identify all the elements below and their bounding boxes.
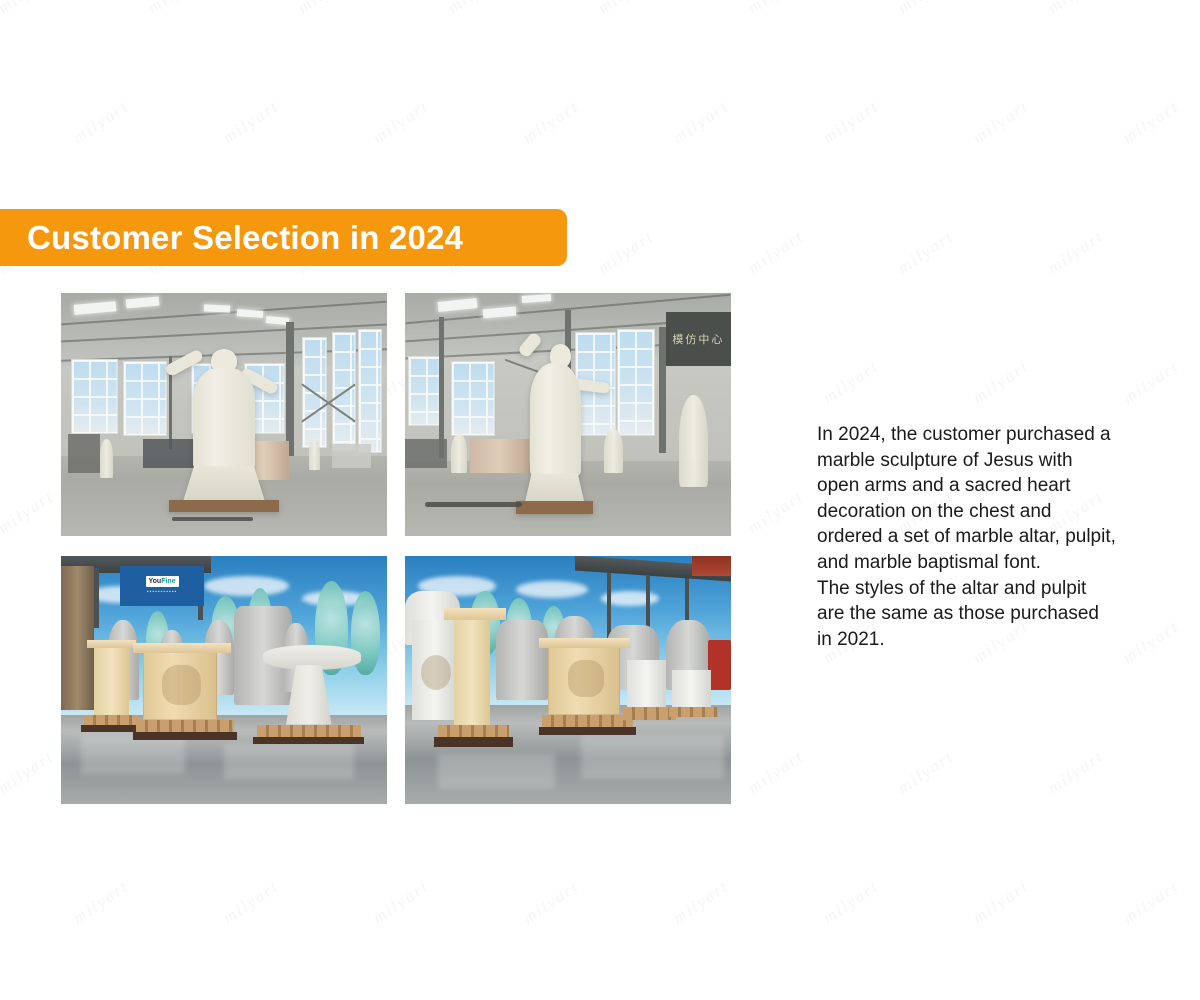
watermark-text: milyart bbox=[594, 0, 658, 18]
watermark-text: milyart bbox=[669, 876, 733, 928]
watermark-text: milyart bbox=[894, 226, 958, 278]
watermark-text: milyart bbox=[1119, 616, 1183, 668]
watermark-text: milyart bbox=[369, 96, 433, 148]
watermark-text: milyart bbox=[69, 96, 133, 148]
page-title: Customer Selection in 2024 bbox=[0, 221, 463, 254]
watermark-text: milyart bbox=[219, 96, 283, 148]
youfine-sign-subtitle: ▪▪▪▪▪▪▪▪▪▪▪ bbox=[147, 589, 178, 595]
section-title-banner: Customer Selection in 2024 bbox=[0, 209, 567, 266]
watermark-text: milyart bbox=[1194, 226, 1200, 278]
youfine-logo: YouFine bbox=[146, 576, 179, 587]
watermark-text: milyart bbox=[744, 746, 808, 798]
watermark-text: milyart bbox=[819, 96, 883, 148]
watermark-text: milyart bbox=[969, 356, 1033, 408]
yard-side-scene bbox=[405, 556, 731, 804]
gallery-photo-bottom-right[interactable] bbox=[405, 556, 731, 804]
watermark-text: milyart bbox=[894, 746, 958, 798]
watermark-text: milyart bbox=[819, 356, 883, 408]
description-paragraph: In 2024, the customer purchased a marble… bbox=[817, 422, 1117, 652]
watermark-text: milyart bbox=[294, 0, 358, 18]
watermark-text: milyart bbox=[1194, 0, 1200, 18]
watermark-text: milyart bbox=[1119, 876, 1183, 928]
watermark-text: milyart bbox=[1044, 226, 1108, 278]
watermark-text: milyart bbox=[0, 0, 58, 18]
watermark-text: milyart bbox=[969, 876, 1033, 928]
workshop-side-scene: 模仿中心 bbox=[405, 293, 731, 536]
watermark-text: milyart bbox=[744, 0, 808, 18]
watermark-text: milyart bbox=[1119, 356, 1183, 408]
watermark-text: milyart bbox=[69, 876, 133, 928]
watermark-text: milyart bbox=[744, 486, 808, 538]
workshop-chinese-sign-text: 模仿中心 bbox=[672, 331, 724, 347]
watermark-text: milyart bbox=[1119, 96, 1183, 148]
watermark-text: milyart bbox=[1044, 0, 1108, 18]
watermark-text: milyart bbox=[1044, 746, 1108, 798]
watermark-text: milyart bbox=[744, 226, 808, 278]
watermark-text: milyart bbox=[0, 486, 58, 538]
watermark-text: milyart bbox=[1194, 746, 1200, 798]
watermark-text: milyart bbox=[969, 96, 1033, 148]
watermark-text: milyart bbox=[144, 0, 208, 18]
watermark-text: milyart bbox=[519, 876, 583, 928]
gallery-photo-top-left[interactable] bbox=[61, 293, 387, 536]
youfine-logo-you: You bbox=[149, 578, 162, 585]
watermark-text: milyart bbox=[369, 876, 433, 928]
watermark-text: milyart bbox=[1194, 486, 1200, 538]
gallery-photo-top-right[interactable]: 模仿中心 bbox=[405, 293, 731, 536]
workshop-chinese-sign: 模仿中心 bbox=[666, 312, 731, 365]
watermark-text: milyart bbox=[894, 0, 958, 18]
watermark-text: milyart bbox=[444, 0, 508, 18]
watermark-text: milyart bbox=[519, 96, 583, 148]
watermark-text: milyart bbox=[669, 96, 733, 148]
youfine-logo-fine: Fine bbox=[161, 578, 175, 585]
watermark-text: milyart bbox=[0, 746, 58, 798]
workshop-front-scene bbox=[61, 293, 387, 536]
photo-gallery: 模仿中心 bbox=[61, 293, 731, 804]
gallery-photo-bottom-left[interactable]: YouFine ▪▪▪▪▪▪▪▪▪▪▪ bbox=[61, 556, 387, 804]
yard-front-scene: YouFine ▪▪▪▪▪▪▪▪▪▪▪ bbox=[61, 556, 387, 804]
watermark-text: milyart bbox=[594, 226, 658, 278]
watermark-text: milyart bbox=[219, 876, 283, 928]
watermark-text: milyart bbox=[819, 876, 883, 928]
youfine-banner-sign: YouFine ▪▪▪▪▪▪▪▪▪▪▪ bbox=[120, 566, 205, 606]
